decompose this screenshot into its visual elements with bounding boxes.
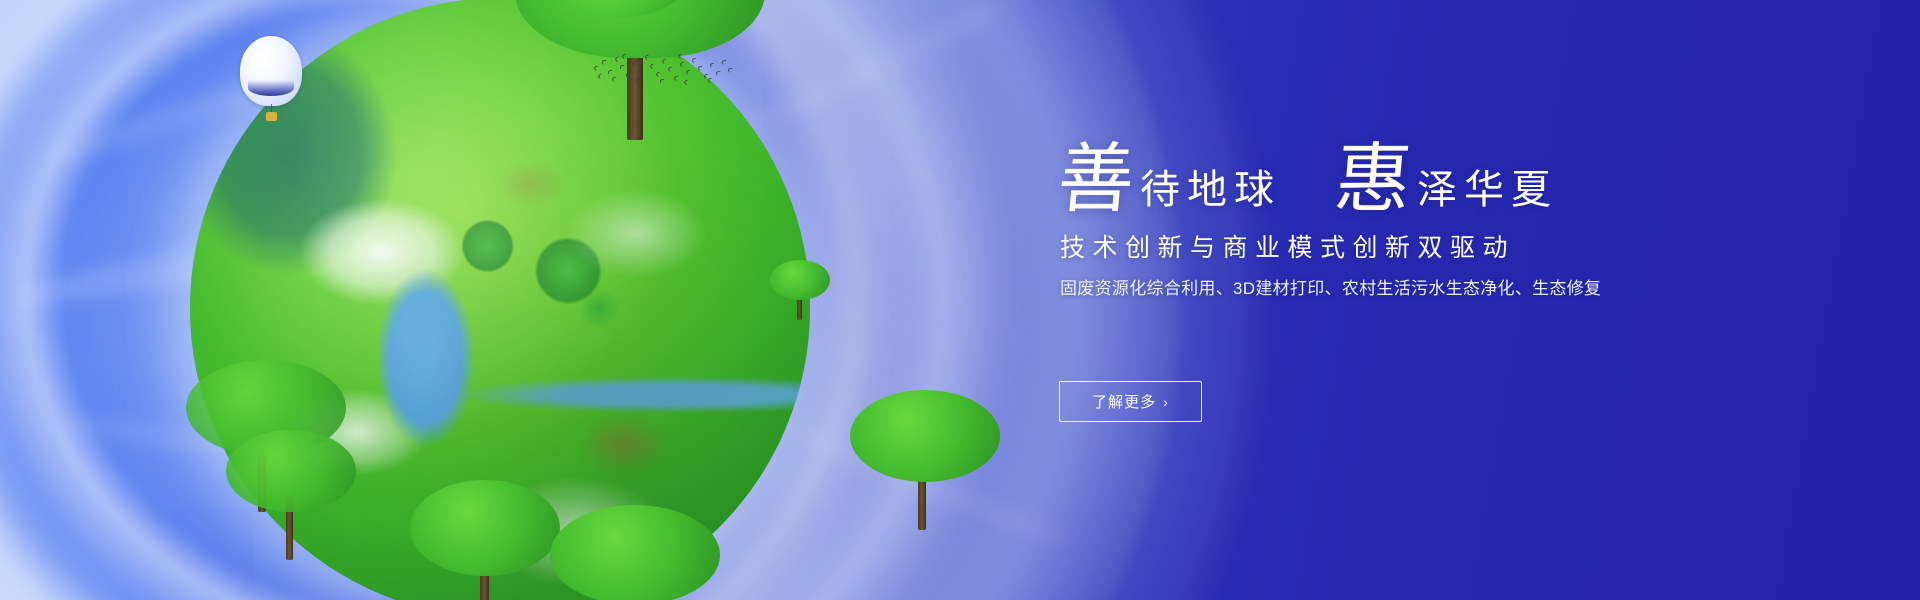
bird-icon (649, 63, 655, 69)
bird-flock-icon (592, 52, 732, 92)
tree-icon (770, 260, 830, 320)
bird-icon (597, 73, 603, 79)
hero-content: 善待地球惠泽华夏 技术创新与商业模式创新双驱动 固废资源化综合利用、3D建材打印… (1054, 0, 1814, 600)
bird-icon (632, 60, 638, 66)
bird-icon (602, 59, 608, 64)
tree-icon (850, 390, 1000, 530)
bird-icon (667, 66, 673, 72)
bird-icon (677, 53, 683, 59)
hero-description: 固废资源化综合利用、3D建材打印、农村生活污水生态净化、生态修复 (1060, 274, 1601, 299)
bird-icon (683, 79, 689, 85)
bird-icon (655, 71, 661, 77)
bird-icon (722, 59, 728, 64)
bird-icon (660, 79, 666, 84)
bird-icon (620, 65, 626, 70)
hot-air-balloon-icon (240, 36, 302, 128)
bird-icon (614, 56, 620, 62)
bird-icon (679, 61, 685, 67)
bird-icon (661, 58, 667, 64)
bird-icon (697, 65, 703, 71)
learn-more-label: 了解更多 (1092, 391, 1156, 412)
bird-icon (608, 69, 614, 74)
tree-icon (410, 480, 560, 600)
bird-icon (636, 77, 642, 82)
bird-icon (691, 57, 697, 63)
bird-icon (709, 62, 715, 67)
tree-icon (550, 505, 720, 600)
bird-icon (593, 65, 599, 71)
hero-banner: 善待地球惠泽华夏 技术创新与商业模式创新双驱动 固废资源化综合利用、3D建材打印… (0, 0, 1920, 600)
bird-icon (716, 70, 722, 75)
bird-icon (707, 77, 713, 83)
headline-rest-2: 泽华夏 (1417, 170, 1558, 210)
headline-rest-1: 待地球 (1140, 170, 1281, 210)
bird-icon (621, 53, 627, 59)
bird-icon (626, 73, 631, 78)
hero-headline: 善待地球惠泽华夏 (1058, 142, 1778, 228)
bird-icon (611, 76, 617, 82)
bird-icon (685, 69, 691, 75)
learn-more-button[interactable]: 了解更多 › (1059, 381, 1202, 422)
headline-char-1: 善 (1055, 142, 1138, 218)
hero-subtitle: 技术创新与商业模式创新双驱动 (1060, 228, 1515, 264)
chevron-right-icon: › (1163, 395, 1169, 409)
tree-icon (226, 430, 356, 560)
bird-icon (638, 67, 644, 73)
bird-icon (644, 54, 650, 60)
headline-char-2: 惠 (1332, 142, 1415, 218)
bird-icon (673, 75, 679, 81)
